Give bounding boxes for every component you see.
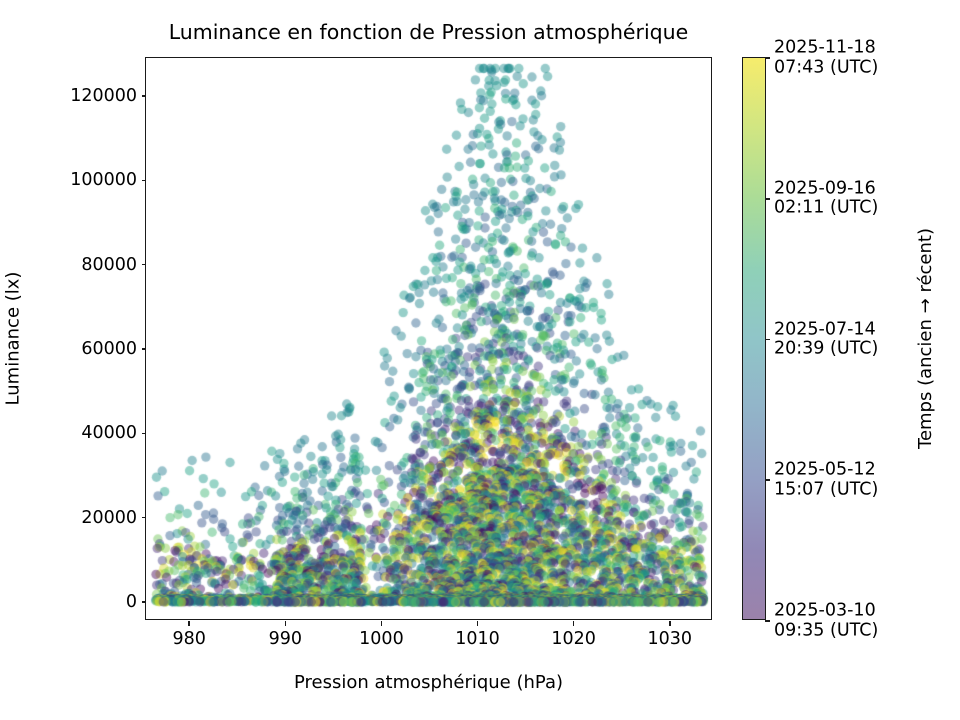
plot-area: 020000400006000080000100000120000 980990… bbox=[145, 57, 712, 620]
x-tick-mark bbox=[669, 621, 671, 626]
colorbar-tick-mark bbox=[765, 339, 770, 341]
y-tick-mark bbox=[142, 180, 147, 182]
y-tick-label: 20000 bbox=[81, 508, 137, 528]
colorbar: 2025-03-1009:35 (UTC)2025-05-1215:07 (UT… bbox=[742, 57, 766, 620]
scatter-points-canvas bbox=[146, 58, 713, 621]
y-axis-label-text: Luminance (lx) bbox=[3, 272, 24, 406]
colorbar-tick-label: 2025-09-1602:11 (UTC) bbox=[774, 179, 878, 218]
x-tick-label: 1030 bbox=[647, 629, 692, 649]
colorbar-tick-mark bbox=[765, 57, 770, 59]
colorbar-tick-label: 2025-03-1009:35 (UTC) bbox=[774, 601, 878, 640]
colorbar-tick-label: 2025-07-1420:39 (UTC) bbox=[774, 320, 878, 359]
y-tick-label: 120000 bbox=[70, 86, 137, 106]
x-tick-mark bbox=[477, 621, 479, 626]
y-tick-label: 100000 bbox=[70, 170, 137, 190]
x-tick-mark bbox=[285, 621, 287, 626]
y-tick-mark bbox=[142, 348, 147, 350]
x-tick-mark bbox=[188, 621, 190, 626]
colorbar-tick-mark bbox=[765, 479, 770, 481]
x-axis-label: Pression atmosphérique (hPa) bbox=[145, 672, 712, 693]
y-tick-mark bbox=[142, 601, 147, 603]
y-tick-label: 80000 bbox=[81, 255, 137, 275]
x-tick-mark bbox=[381, 621, 383, 626]
colorbar-tick-label: 2025-11-1807:43 (UTC) bbox=[774, 38, 878, 77]
y-tick-label: 60000 bbox=[81, 339, 137, 359]
x-tick-label: 1000 bbox=[359, 629, 404, 649]
y-tick-mark bbox=[142, 95, 147, 97]
y-axis-label: Luminance (lx) bbox=[0, 57, 26, 620]
x-tick-label: 1010 bbox=[455, 629, 500, 649]
colorbar-label-text: Temps (ancien → récent) bbox=[915, 228, 936, 449]
y-tick-label: 0 bbox=[126, 592, 137, 612]
y-tick-mark bbox=[142, 264, 147, 266]
x-tick-label: 1020 bbox=[551, 629, 596, 649]
colorbar-tick-mark bbox=[765, 620, 770, 622]
x-tick-label: 980 bbox=[173, 629, 206, 649]
colorbar-tick-label: 2025-05-1215:07 (UTC) bbox=[774, 461, 878, 500]
colorbar-label: Temps (ancien → récent) bbox=[912, 57, 938, 620]
y-tick-label: 40000 bbox=[81, 423, 137, 443]
x-tick-label: 990 bbox=[269, 629, 302, 649]
colorbar-tick-mark bbox=[765, 198, 770, 200]
x-tick-mark bbox=[573, 621, 575, 626]
y-tick-mark bbox=[142, 433, 147, 435]
chart-figure: Luminance en fonction de Pression atmosp… bbox=[0, 0, 960, 720]
colorbar-gradient bbox=[743, 58, 765, 619]
y-tick-mark bbox=[142, 517, 147, 519]
chart-title: Luminance en fonction de Pression atmosp… bbox=[145, 20, 712, 44]
